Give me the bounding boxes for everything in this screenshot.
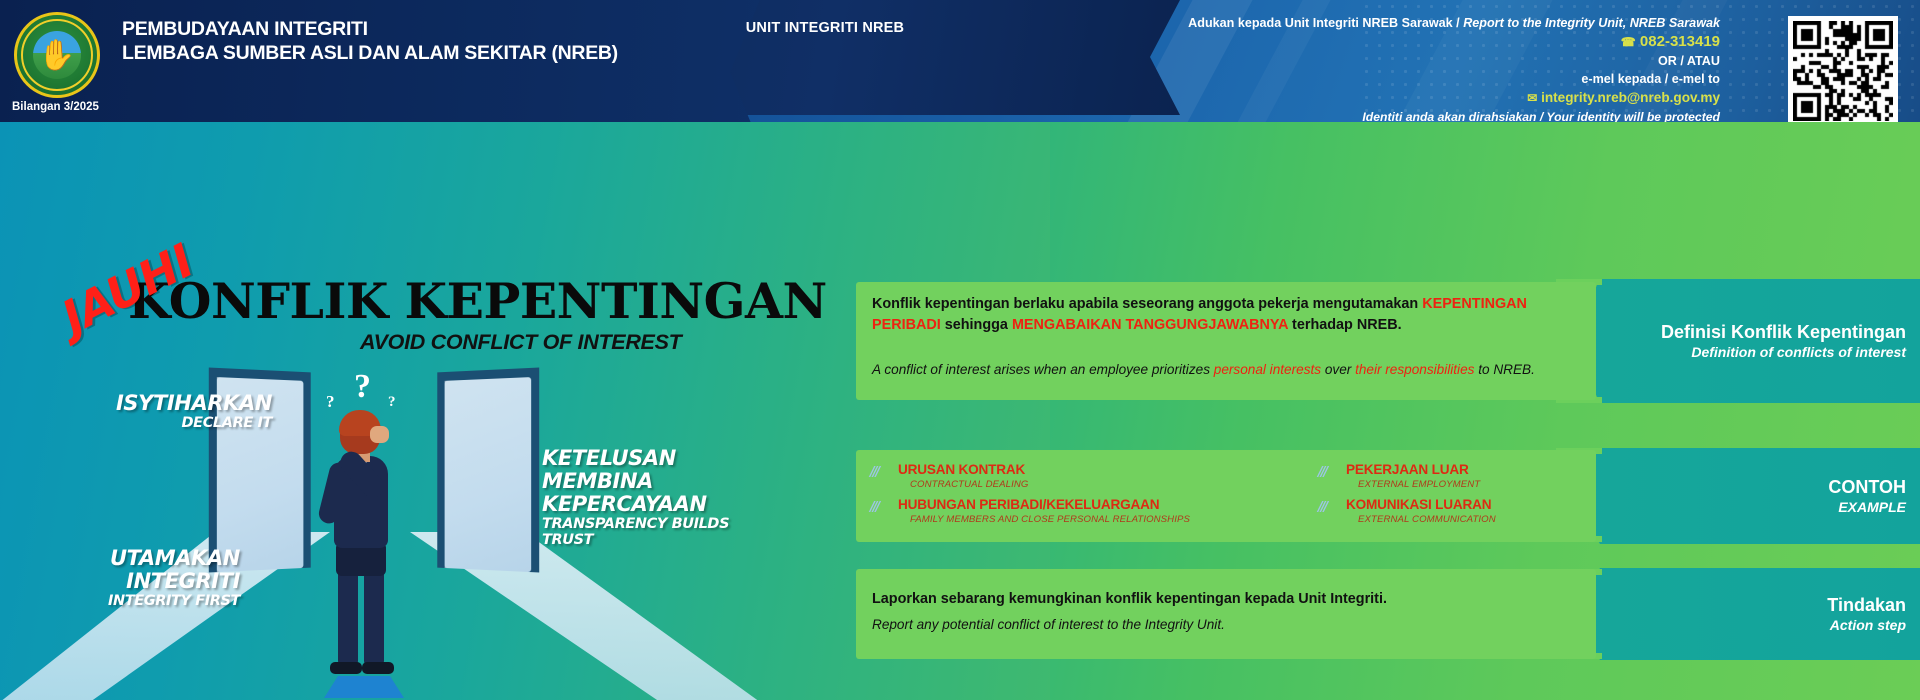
qr-code[interactable] [1788,16,1898,126]
question-mark-icon: ? [354,368,371,406]
tab-action-ms: Tindakan [1560,594,1906,616]
tab-definition-en: Definition of conflicts of interest [1560,343,1906,361]
definition-panel: Konflik kepentingan berlaku apabila sese… [856,282,1596,400]
examples-column-right: /// PEKERJAAN LUAR EXTERNAL EMPLOYMENT /… [1318,462,1618,532]
email-label: e-mel kepada / e-mel to [1080,70,1720,88]
organisation-title: PEMBUDAYAAN INTEGRITI LEMBAGA SUMBER ASL… [122,17,618,65]
contact-block: Adukan kepada Unit Integriti NREB Sarawa… [1080,14,1720,126]
caption-trust-en: TRANSPARENCY BUILDS TRUST [542,516,772,548]
phone-number: 082-313419 [1640,33,1720,50]
poster-body: NREB PERIBADI ? ? ? JAUHI KONFLIK KEPENT… [0,122,1920,700]
or-separator: OR / ATAU [1080,52,1720,70]
caption-integrity-first: UTAMAKAN INTEGRITI INTEGRITY FIRST [30,547,240,609]
org-line-1: PEMBUDAYAAN INTEGRITI [122,17,618,41]
definition-text-ms: Konflik kepentingan berlaku apabila sese… [872,294,1580,336]
page-title: KONFLIK KEPENTINGAN [128,274,827,328]
example-item-ms: PEKERJAAN LUAR [1346,462,1618,478]
example-item-ms: URUSAN KONTRAK [898,462,1290,478]
motion-lines-icon: /// [870,500,878,515]
phone-icon: ☎ [1621,35,1636,49]
definition-en-part3: to NREB. [1474,362,1534,377]
example-item-en: CONTRACTUAL DEALING [898,478,1290,491]
example-item-ms: KOMUNIKASI LUARAN [1346,497,1618,513]
caption-declare-ms: ISYTIHARKAN [92,392,272,415]
definition-en-highlight-1: personal interests [1214,362,1321,377]
email-address: integrity.nreb@nreb.gov.my [1541,90,1720,105]
report-line-ms: Adukan kepada Unit Integriti NREB Sarawa… [1188,16,1463,30]
definition-en-part2: over [1321,362,1355,377]
caption-transparency: KETELUSAN MEMBINA KEPERCAYAAN TRANSPAREN… [542,447,772,548]
door-peribadi: PERIBADI [437,368,539,573]
caption-declare: ISYTIHARKAN DECLARE IT [92,392,272,431]
action-panel: Laporkan sebarang kemungkinan konflik ke… [856,569,1596,659]
tab-definition-ms: Definisi Konflik Kepentingan [1560,321,1906,343]
definition-ms-part1: Konflik kepentingan berlaku apabila sese… [872,296,1422,312]
caption-integrity-ms: UTAMAKAN INTEGRITI [30,547,240,593]
question-mark-icon: ? [388,394,396,411]
report-line-en: Report to the Integrity Unit, NREB Saraw… [1463,16,1720,30]
example-item-en: EXTERNAL EMPLOYMENT [1346,478,1618,491]
examples-panel: /// URUSAN KONTRAK CONTRACTUAL DEALING /… [856,450,1596,542]
motion-lines-icon: /// [870,465,878,480]
example-item-en: EXTERNAL COMMUNICATION [1346,513,1618,526]
caption-declare-en: DECLARE IT [92,415,272,431]
nreb-logo: ✋ [14,12,100,98]
caption-trust-ms-2: KEPERCAYAAN [542,493,772,516]
unit-title: UNIT INTEGRITI NREB [700,20,950,36]
definition-ms-part2: sehingga [941,317,1012,333]
org-line-2: LEMBAGA SUMBER ASLI DAN ALAM SEKITAR (NR… [122,41,618,65]
tab-action: Tindakan Action step [1560,568,1920,660]
caption-integrity-en: INTEGRITY FIRST [30,593,240,609]
example-item-ms: HUBUNGAN PERIBADI/KEKELUARGAAN [898,497,1290,513]
caption-trust-ms-1: KETELUSAN MEMBINA [542,447,772,493]
example-item: /// URUSAN KONTRAK CONTRACTUAL DEALING [870,462,1290,491]
email-line[interactable]: ✉ integrity.nreb@nreb.gov.my [1080,88,1720,108]
example-item: /// PEKERJAAN LUAR EXTERNAL EMPLOYMENT [1318,462,1618,491]
definition-ms-part3: terhadap NREB. [1288,317,1402,333]
definition-en-highlight-2: their responsibilities [1355,362,1474,377]
question-mark-icon: ? [326,392,335,412]
employee-figure: ? ? ? [318,400,408,690]
examples-column-left: /// URUSAN KONTRAK CONTRACTUAL DEALING /… [870,462,1290,532]
definition-en-part1: A conflict of interest arises when an em… [872,362,1214,377]
phone-line[interactable]: ☎ 082-313419 [1080,32,1720,52]
definition-ms-highlight-2: MENGABAIKAN TANGGUNGJAWABNYA [1012,317,1288,333]
motion-lines-icon: /// [1318,500,1326,515]
example-item: /// HUBUNGAN PERIBADI/KEKELUARGAAN FAMIL… [870,497,1290,526]
action-text-en: Report any potential conflict of interes… [872,617,1225,632]
example-item-en: FAMILY MEMBERS AND CLOSE PERSONAL RELATI… [898,513,1290,526]
example-item: /// KOMUNIKASI LUARAN EXTERNAL COMMUNICA… [1318,497,1618,526]
motion-lines-icon: /// [1318,465,1326,480]
envelope-icon: ✉ [1527,91,1537,105]
page-subtitle: AVOID CONFLICT OF INTEREST [360,330,681,355]
action-text-ms: Laporkan sebarang kemungkinan konflik ke… [872,591,1387,607]
report-line: Adukan kepada Unit Integriti NREB Sarawa… [1080,14,1720,32]
tab-definition: Definisi Konflik Kepentingan Definition … [1560,279,1920,403]
issue-number: Bilangan 3/2025 [12,101,99,113]
definition-text-en: A conflict of interest arises when an em… [872,360,1580,379]
tab-action-en: Action step [1560,616,1906,634]
